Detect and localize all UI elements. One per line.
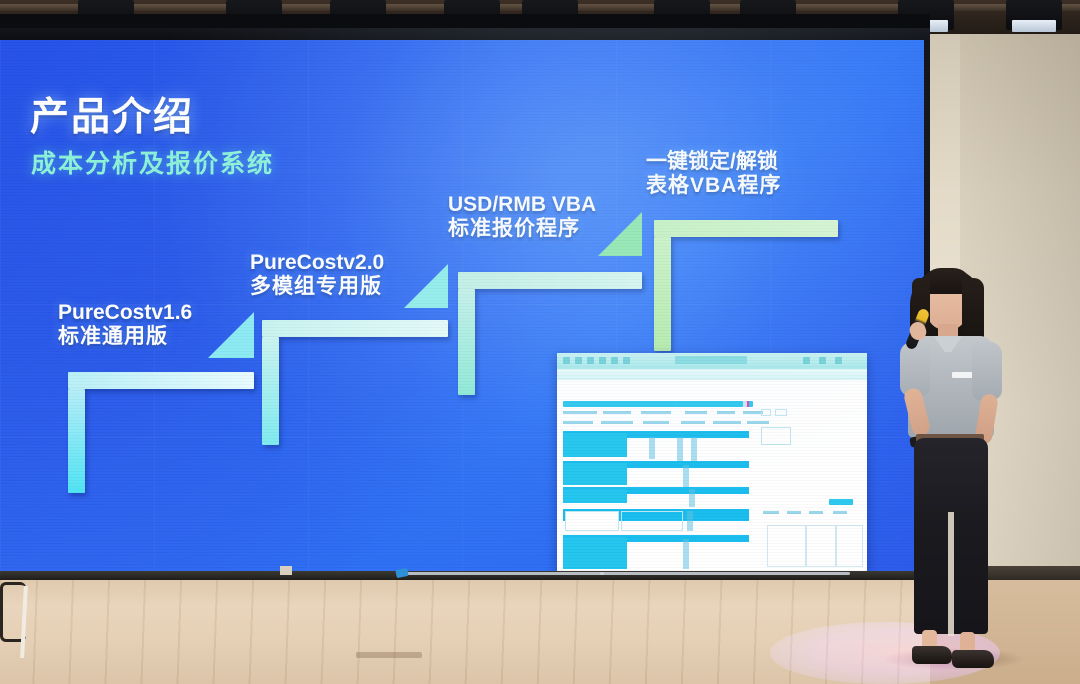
- sheet-title-bar: [675, 356, 747, 364]
- arrow-triangle-icon: [404, 264, 448, 308]
- floor-marking: [356, 652, 422, 658]
- screenshot-root: 产品介绍 成本分析及报价系统: [0, 0, 1080, 684]
- sheet-text-run: [747, 421, 769, 424]
- bracket-vertical-bar: [654, 237, 671, 351]
- sheet-text-run: [601, 421, 633, 424]
- step-label-2: PureCostv2.0 多模组专用版: [250, 251, 384, 300]
- presenter-sleeve-right: [972, 342, 1002, 400]
- ribbon-icon: [575, 357, 582, 364]
- step-label-line2: 表格VBA程序: [646, 174, 781, 198]
- sheet-data-block: [563, 463, 627, 485]
- step-label-line2: 标准报价程序: [448, 217, 596, 241]
- presenter: [886, 262, 1018, 684]
- sheet-text-run: [809, 511, 823, 514]
- sheet-text-run: [685, 411, 707, 414]
- sheet-text-run: [787, 511, 801, 514]
- presenter-leg-gap: [948, 512, 954, 636]
- sheet-text-run: [563, 411, 597, 414]
- ribbon-icon: [611, 357, 618, 364]
- bracket-vertical-bar: [68, 389, 85, 493]
- ribbon-icon: [819, 357, 826, 364]
- arrow-triangle-icon: [208, 312, 254, 358]
- ribbon-icon: [835, 357, 842, 364]
- sheet-text-run: [683, 539, 689, 569]
- presenter-ankle-right: [960, 632, 975, 652]
- spotlight-fixture: [1006, 0, 1062, 30]
- ribbon-icon: [623, 357, 630, 364]
- step-label-line1: 一键锁定/解锁: [646, 150, 781, 174]
- ribbon-icon: [599, 357, 606, 364]
- sheet-cell-box: [621, 511, 683, 531]
- sheet-text-run: [689, 489, 695, 507]
- step-label-line2: 标准通用版: [58, 325, 192, 349]
- presenter-shoe-left: [912, 646, 952, 664]
- sheet-side-grid: [835, 525, 837, 567]
- stage-cable: [600, 572, 850, 575]
- bracket-horizontal-bar: [68, 372, 254, 389]
- ribbon-icon: [563, 357, 570, 364]
- stage-cable: [404, 572, 604, 575]
- sheet-text-run: [643, 421, 669, 424]
- sheet-text-run: [641, 411, 671, 414]
- presenter-shoe-right: [952, 650, 994, 668]
- sheet-ribbon-row2: [557, 369, 867, 380]
- step-label-3: USD/RMB VBA 标准报价程序: [448, 193, 596, 242]
- sheet-side-grid: [805, 525, 807, 567]
- sheet-text-run: [743, 411, 763, 414]
- step-label-line1: PureCostv1.6: [58, 301, 192, 325]
- ribbon-icon: [587, 357, 594, 364]
- step-label-line1: PureCostv2.0: [250, 251, 384, 275]
- bracket-vertical-bar: [458, 289, 475, 395]
- sheet-text-run: [681, 421, 705, 424]
- sheet-data-block: [563, 537, 627, 569]
- sheet-text-run: [717, 411, 735, 414]
- led-screen: 产品介绍 成本分析及报价系统: [0, 40, 924, 571]
- sheet-text-run: [763, 511, 779, 514]
- sheet-title-row: [675, 401, 743, 407]
- shirt-logo: [952, 372, 974, 378]
- sheet-text-run: [649, 437, 655, 459]
- sheet-side-panel: [775, 409, 787, 416]
- bracket-horizontal-bar: [458, 272, 642, 289]
- led-wall: 产品介绍 成本分析及报价系统: [0, 14, 930, 580]
- bracket-vertical-bar: [262, 337, 279, 445]
- ribbon-icon: [803, 357, 810, 364]
- sheet-data-block: [563, 489, 627, 503]
- spreadsheet-screenshot: [557, 353, 867, 571]
- sheet-text-run: [713, 421, 741, 424]
- bracket-horizontal-bar: [262, 320, 448, 337]
- step-label-1: PureCostv1.6 标准通用版: [58, 301, 192, 350]
- sheet-side-panel: [761, 427, 791, 445]
- step-label-line1: USD/RMB VBA: [448, 193, 596, 217]
- sheet-text-run: [677, 437, 683, 463]
- step-label-line2: 多模组专用版: [250, 275, 384, 299]
- sheet-text-run: [563, 421, 593, 424]
- page-title: 产品介绍: [30, 86, 194, 142]
- sheet-text-run: [687, 511, 693, 531]
- bracket-horizontal-bar: [654, 220, 838, 237]
- sheet-side-panel: [761, 409, 771, 416]
- arrow-triangle-icon: [598, 212, 642, 256]
- sheet-side-accent: [829, 499, 853, 505]
- sheet-text-run: [691, 437, 697, 461]
- sheet-data-block: [595, 433, 625, 455]
- sheet-text-run: [833, 511, 847, 514]
- sheet-side-grid: [767, 525, 863, 567]
- sheet-text-run: [603, 411, 631, 414]
- page-subtitle: 成本分析及报价系统: [31, 144, 274, 180]
- step-label-4: 一键锁定/解锁 表格VBA程序: [646, 150, 781, 199]
- floor-box: [280, 566, 292, 575]
- sheet-cell-box: [565, 511, 619, 531]
